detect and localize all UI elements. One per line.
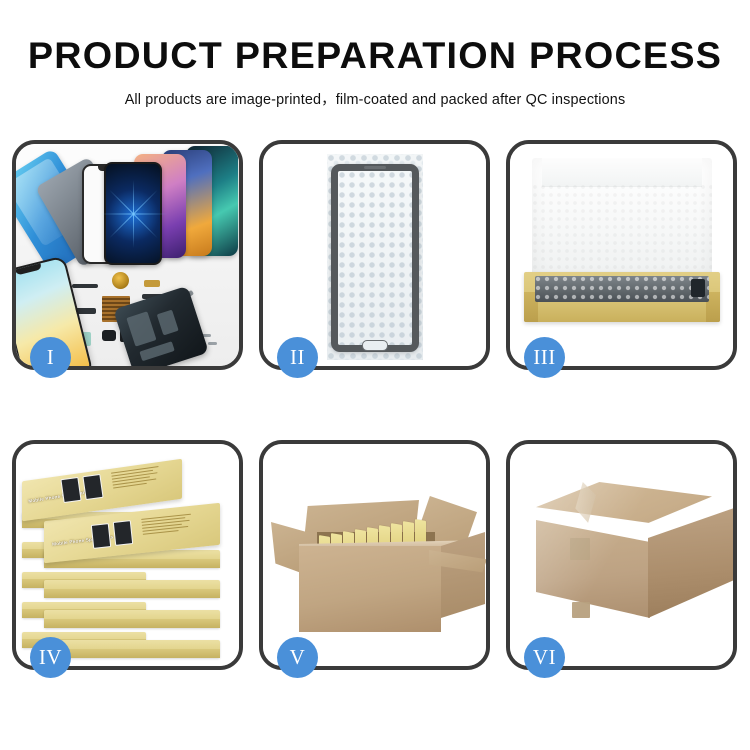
- box-stack: Mobile Phone Spare Parts Mobile Phone Sp…: [16, 444, 239, 666]
- step-badge-4: IV: [30, 637, 71, 678]
- step-badge-3: III: [524, 337, 565, 378]
- carton-side-face: [441, 532, 485, 618]
- step-3-image: [510, 144, 733, 366]
- step-2-image: [263, 144, 486, 366]
- spare-part-camera: [102, 330, 116, 341]
- step-panel-4[interactable]: Mobile Phone Spare Parts Mobile Phone Sp…: [12, 440, 243, 670]
- page-subtitle: All products are image-printed，film-coat…: [0, 88, 750, 109]
- tape-tab-bottom: [572, 602, 590, 618]
- step-badge-5: V: [277, 637, 318, 678]
- box-label-phone-image: [91, 523, 111, 549]
- sealed-box-front: [536, 514, 650, 618]
- tape-tab-top: [570, 538, 590, 560]
- product-preparation-process-infographic: PRODUCT PREPARATION PROCESS All products…: [0, 0, 750, 750]
- stacked-box: [44, 580, 220, 598]
- step-badge-2: II: [277, 337, 318, 378]
- box-label-phone-image: [113, 520, 133, 546]
- step-6-image: [510, 444, 733, 666]
- step-badge-6: VI: [524, 637, 565, 678]
- process-steps-grid: I II III: [12, 140, 738, 680]
- step-panel-2[interactable]: II: [259, 140, 490, 370]
- wrapped-screen-in-box: [535, 276, 709, 302]
- step-1-image: [16, 144, 239, 366]
- step-panel-5[interactable]: V: [259, 440, 490, 670]
- dark-phone-wallpaper: [104, 162, 162, 265]
- stacked-box: [44, 610, 220, 628]
- box-label-phone-image: [82, 474, 103, 500]
- step-badge-1: I: [30, 337, 71, 378]
- wireless-charging-coil: [112, 272, 129, 289]
- step-5-image: [263, 444, 486, 666]
- spare-part-flex-gold: [144, 280, 160, 287]
- spare-part-connector: [72, 284, 98, 288]
- header: PRODUCT PREPARATION PROCESS All products…: [0, 0, 750, 109]
- open-kraft-box: [524, 272, 720, 322]
- spare-part-screw-2: [208, 342, 217, 345]
- white-foam-padding: [532, 158, 712, 280]
- step-4-image: Mobile Phone Spare Parts Mobile Phone Sp…: [16, 444, 239, 666]
- carton-front-face: [299, 546, 441, 632]
- step-panel-3[interactable]: III: [506, 140, 737, 370]
- wrapped-screen: [331, 164, 419, 352]
- step-panel-1[interactable]: I: [12, 140, 243, 370]
- step-panel-6[interactable]: VI: [506, 440, 737, 670]
- page-title: PRODUCT PREPARATION PROCESS: [0, 37, 750, 74]
- earpiece-speaker: [364, 166, 386, 169]
- sealed-box-side: [648, 508, 733, 618]
- box-label-phone-image: [60, 477, 81, 503]
